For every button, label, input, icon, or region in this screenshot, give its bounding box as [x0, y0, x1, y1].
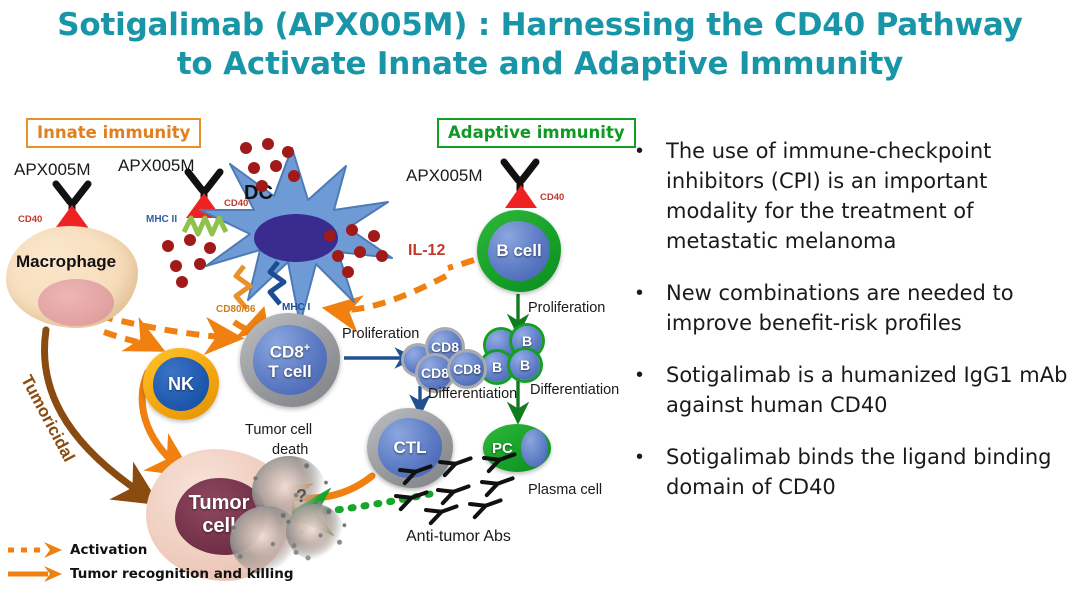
title-line-1: Sotigalimab (APX005M) : Harnessing the C…	[0, 6, 1080, 45]
bullet-marker: •	[636, 136, 666, 256]
mhc-i-icon	[266, 260, 290, 308]
badge-adaptive-immunity: Adaptive immunity	[437, 118, 636, 148]
bullet-marker: •	[636, 442, 666, 502]
label-b-proliferation: Proliferation	[528, 300, 605, 316]
legend-label-killing: Tumor recognition and killing	[70, 566, 294, 582]
bullet-text: The use of immune-checkpoint inhibitors …	[666, 136, 1080, 256]
legend-row-activation: Activation	[6, 538, 294, 562]
label-mhc-ii: MHC II	[146, 214, 177, 225]
b-cluster-cell-4: B	[510, 350, 540, 380]
bullet-marker: •	[636, 360, 666, 420]
bullet-item: • Sotigalimab is a humanized IgG1 mAb ag…	[636, 360, 1080, 420]
arrow-tumoricidal	[44, 330, 152, 500]
title-line-2: to Activate Innate and Adaptive Immunity	[0, 45, 1080, 84]
bullet-text: Sotigalimab is a humanized IgG1 mAb agai…	[666, 360, 1080, 420]
label-apx005m-macrophage: APX005M	[14, 160, 91, 180]
label-t-differentiation: Differentiation	[428, 386, 517, 402]
legend-dashed-arrow-icon	[6, 541, 64, 559]
cd8-cluster-cell-3: CD8	[418, 356, 452, 390]
cytokine-dots-right	[322, 224, 404, 280]
cell-b-cell: B cell	[477, 210, 561, 292]
cytokine-dots-top	[236, 138, 306, 194]
tumor-debris-3	[286, 504, 344, 560]
cell-cd8-t: CD8+ T cell	[240, 313, 340, 407]
label-unknown-marker: ?	[296, 486, 307, 507]
label-tumor-cell-death-line1: Tumor cell	[245, 422, 312, 438]
bullet-list: • The use of immune-checkpoint inhibitor…	[636, 136, 1080, 576]
bullet-text: Sotigalimab binds the ligand binding dom…	[666, 442, 1080, 502]
cell-macrophage: Macrophage	[6, 226, 138, 328]
anti-tumor-antibody-icons	[396, 456, 556, 522]
cd8t-nucleus	[253, 325, 327, 395]
pathway-diagram: Innate immunity Adaptive immunity APX005…	[0, 104, 634, 594]
arrow-macrophage-to-nk	[104, 332, 158, 348]
legend-row-killing: Tumor recognition and killing	[6, 562, 294, 586]
bullet-item: • New combinations are needed to improve…	[636, 278, 1080, 338]
legend-solid-arrow-icon	[6, 565, 64, 583]
label-cd40-macrophage: CD40	[18, 214, 42, 225]
nk-nucleus	[153, 357, 209, 410]
macrophage-nucleus	[38, 279, 115, 326]
label-t-proliferation: Proliferation	[342, 326, 419, 342]
label-apx005m-bcell: APX005M	[406, 166, 483, 186]
page-title: Sotigalimab (APX005M) : Harnessing the C…	[0, 6, 1080, 84]
bullet-item: • The use of immune-checkpoint inhibitor…	[636, 136, 1080, 256]
cd40-receptor-icon-bcell	[502, 184, 540, 210]
label-anti-tumor-abs: Anti-tumor Abs	[406, 528, 511, 546]
b-cluster-cell-3: B	[482, 352, 512, 382]
legend-label-activation: Activation	[70, 542, 147, 558]
arrow-bcell-activation	[448, 260, 474, 268]
cell-nk: NK	[143, 348, 219, 420]
label-cd40-bcell: CD40	[540, 192, 564, 203]
label-il12: IL-12	[408, 242, 445, 260]
badge-innate-immunity: Innate immunity	[26, 118, 201, 148]
cd8-cluster-cell-4: CD8	[450, 352, 484, 386]
label-b-differentiation: Differentiation	[530, 382, 619, 398]
bullet-text: New combinations are needed to improve b…	[666, 278, 1080, 338]
bullet-item: • Sotigalimab binds the ligand binding d…	[636, 442, 1080, 502]
legend: Activation Tumor recognition and killing	[6, 538, 294, 586]
bullet-marker: •	[636, 278, 666, 338]
cytokine-dots-left	[160, 232, 236, 288]
label-mhc-i: MHC I	[282, 302, 310, 313]
